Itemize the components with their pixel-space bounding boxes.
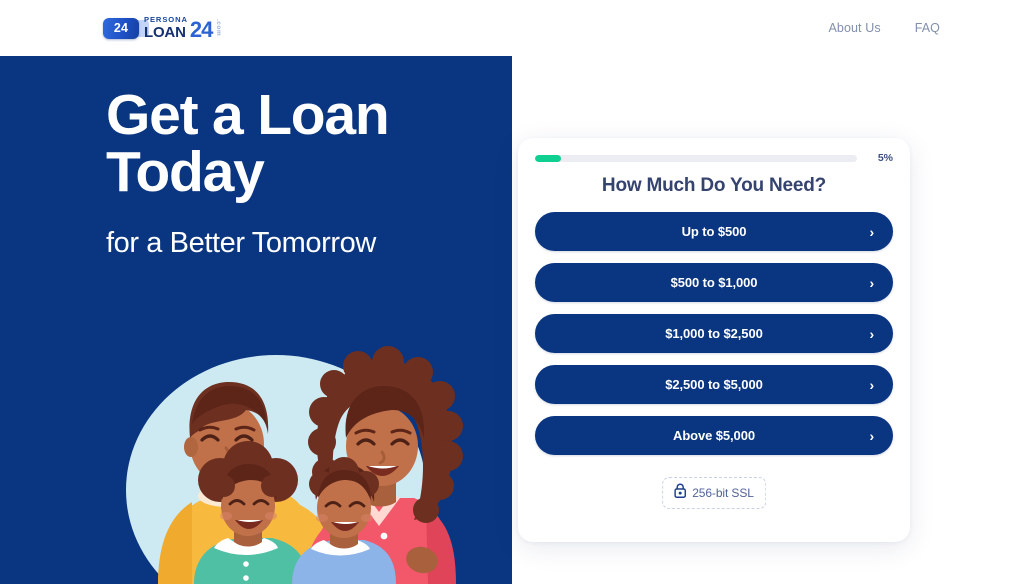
progress-row: 5% xyxy=(535,148,893,168)
loan-amount-options: Up to $500 › $500 to $1,000 › $1,000 to … xyxy=(535,212,893,455)
landing-page: 24 PERSONA LOAN 24 .com About Us FAQ Get… xyxy=(0,0,1024,584)
loan-option-label: $2,500 to $5,000 xyxy=(665,377,762,392)
chevron-right-icon: › xyxy=(869,276,874,290)
form-question-title: How Much Do You Need? xyxy=(518,175,910,197)
loan-option-label: Above $5,000 xyxy=(673,428,755,443)
loan-option-above-5000[interactable]: Above $5,000 › xyxy=(535,416,893,455)
nav-link-about-us[interactable]: About Us xyxy=(828,21,880,35)
chevron-right-icon: › xyxy=(869,225,874,239)
family-illustration xyxy=(96,320,496,584)
hero-subheadline: for a Better Tomorrow xyxy=(106,227,376,260)
ssl-badge-label: 256-bit SSL xyxy=(692,486,754,500)
hero-headline-line2: Today xyxy=(106,144,506,201)
loan-option-label: $1,000 to $2,500 xyxy=(665,326,762,341)
main-nav: About Us FAQ xyxy=(828,21,940,35)
loan-option-1000-to-2500[interactable]: $1,000 to $2,500 › xyxy=(535,314,893,353)
logo-com-text: .com xyxy=(214,19,221,39)
chevron-right-icon: › xyxy=(869,378,874,392)
site-header: 24 PERSONA LOAN 24 .com About Us FAQ xyxy=(0,0,1024,56)
loan-option-label: $500 to $1,000 xyxy=(671,275,758,290)
progress-bar-fill xyxy=(535,155,561,162)
hero-headline: Get a Loan Today xyxy=(106,87,506,201)
logo-wordmark: PERSONA LOAN 24 .com xyxy=(144,16,221,40)
logo-persona-text: PERSONA xyxy=(144,16,188,24)
progress-bar-track xyxy=(535,155,857,162)
lock-icon xyxy=(674,483,686,503)
progress-percent-label: 5% xyxy=(867,152,893,164)
ssl-security-badge: 256-bit SSL xyxy=(662,477,766,509)
chevron-right-icon: › xyxy=(869,327,874,341)
hero-panel: Get a Loan Today for a Better Tomorrow xyxy=(0,56,512,584)
loan-option-label: Up to $500 xyxy=(682,224,747,239)
logo-number-text: 24 xyxy=(190,20,212,40)
site-logo[interactable]: 24 PERSONA LOAN 24 .com xyxy=(103,15,221,41)
loan-option-up-to-500[interactable]: Up to $500 › xyxy=(535,212,893,251)
nav-link-faq[interactable]: FAQ xyxy=(915,21,940,35)
chevron-right-icon: › xyxy=(869,429,874,443)
logo-badge: 24 xyxy=(103,18,139,39)
logo-loan-text: LOAN xyxy=(144,25,188,40)
loan-option-2500-to-5000[interactable]: $2,500 to $5,000 › xyxy=(535,365,893,404)
loan-option-500-to-1000[interactable]: $500 to $1,000 › xyxy=(535,263,893,302)
hero-headline-line1: Get a Loan xyxy=(106,87,506,144)
loan-form-card: 5% How Much Do You Need? Up to $500 › $5… xyxy=(518,138,910,542)
